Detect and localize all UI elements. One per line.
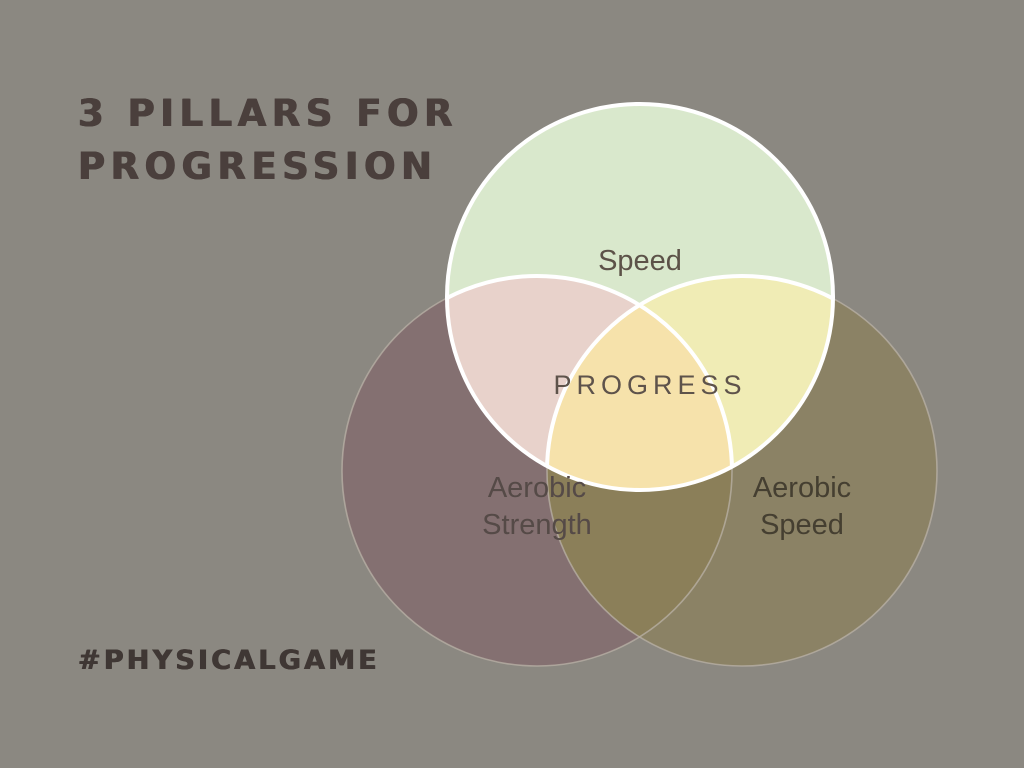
page-title: 3 Pillars for Progression <box>78 88 498 193</box>
slide-canvas: 3 Pillars for Progression Speed PROGRESS… <box>0 0 1024 768</box>
hashtag-label: #PhysicalGame <box>78 645 380 676</box>
